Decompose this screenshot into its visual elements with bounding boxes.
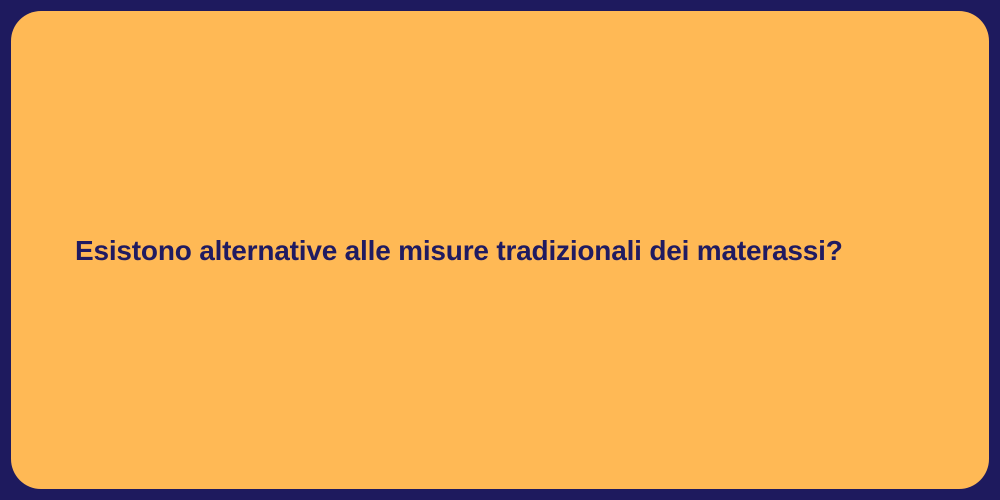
page-background: Esistono alternative alle misure tradizi…	[0, 0, 1000, 500]
faq-question-title: Esistono alternative alle misure tradizi…	[75, 233, 843, 268]
faq-question-card: Esistono alternative alle misure tradizi…	[11, 11, 989, 489]
